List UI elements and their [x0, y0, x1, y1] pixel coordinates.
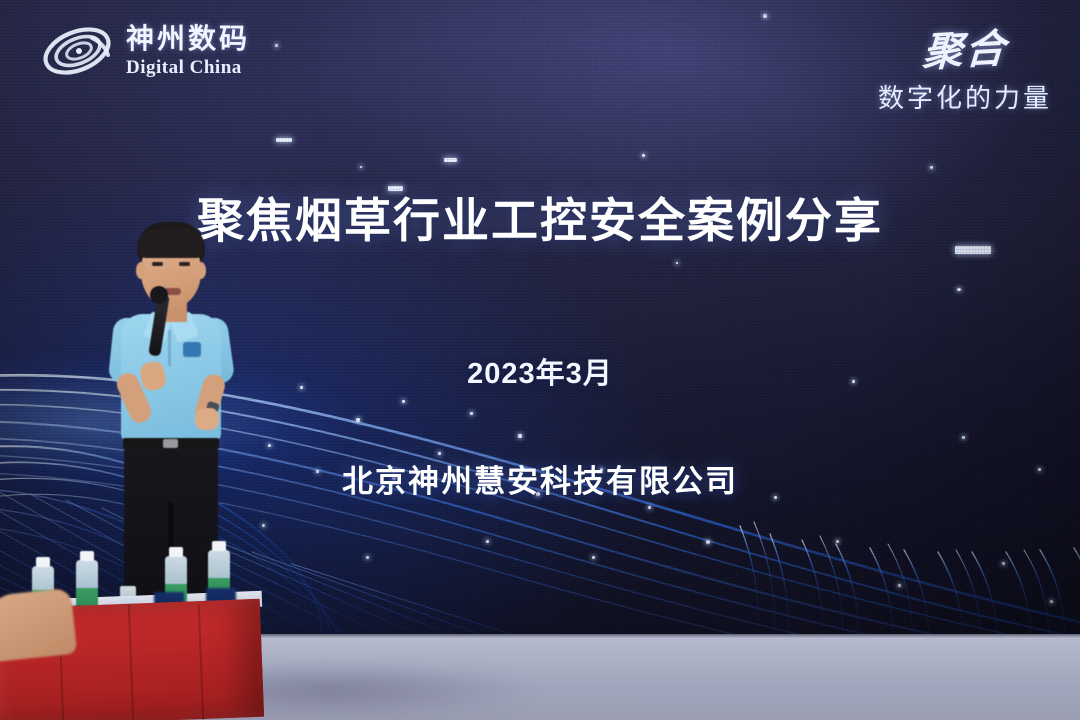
- presenter-shirt-emblem: [183, 342, 201, 357]
- screenshot-stage: 神州数码 Digital China 聚合 数字化的力量 聚焦烟草行业工控安全案…: [0, 0, 1080, 720]
- digital-china-logo: 神州数码 Digital China: [40, 22, 250, 80]
- logo-name-en: Digital China: [126, 58, 250, 77]
- logo-name-cn: 神州数码: [126, 25, 250, 53]
- presenter-eye-right: [179, 262, 190, 266]
- presenter-ear-left: [136, 262, 146, 279]
- bottle-cap: [36, 557, 50, 567]
- presenter-belt-buckle: [163, 439, 178, 448]
- presenter-hair-front: [138, 228, 204, 258]
- presenter-ear-right: [196, 262, 206, 279]
- presenter-shirt-placket: [168, 330, 171, 366]
- bottle-cap: [212, 541, 226, 551]
- bottle-cap: [80, 551, 94, 561]
- slogan-calligraphy: 聚合: [921, 16, 1008, 78]
- bottle-cap: [169, 547, 183, 557]
- slogan-subtitle: 数字化的力量: [878, 78, 1052, 115]
- digital-china-swirl-icon: [40, 22, 114, 80]
- presenter-eye-left: [152, 262, 163, 266]
- guest-arm: [0, 588, 77, 663]
- presenter-right-hand: [195, 408, 219, 430]
- event-slogan: 聚合 数字化的力量: [878, 18, 1052, 115]
